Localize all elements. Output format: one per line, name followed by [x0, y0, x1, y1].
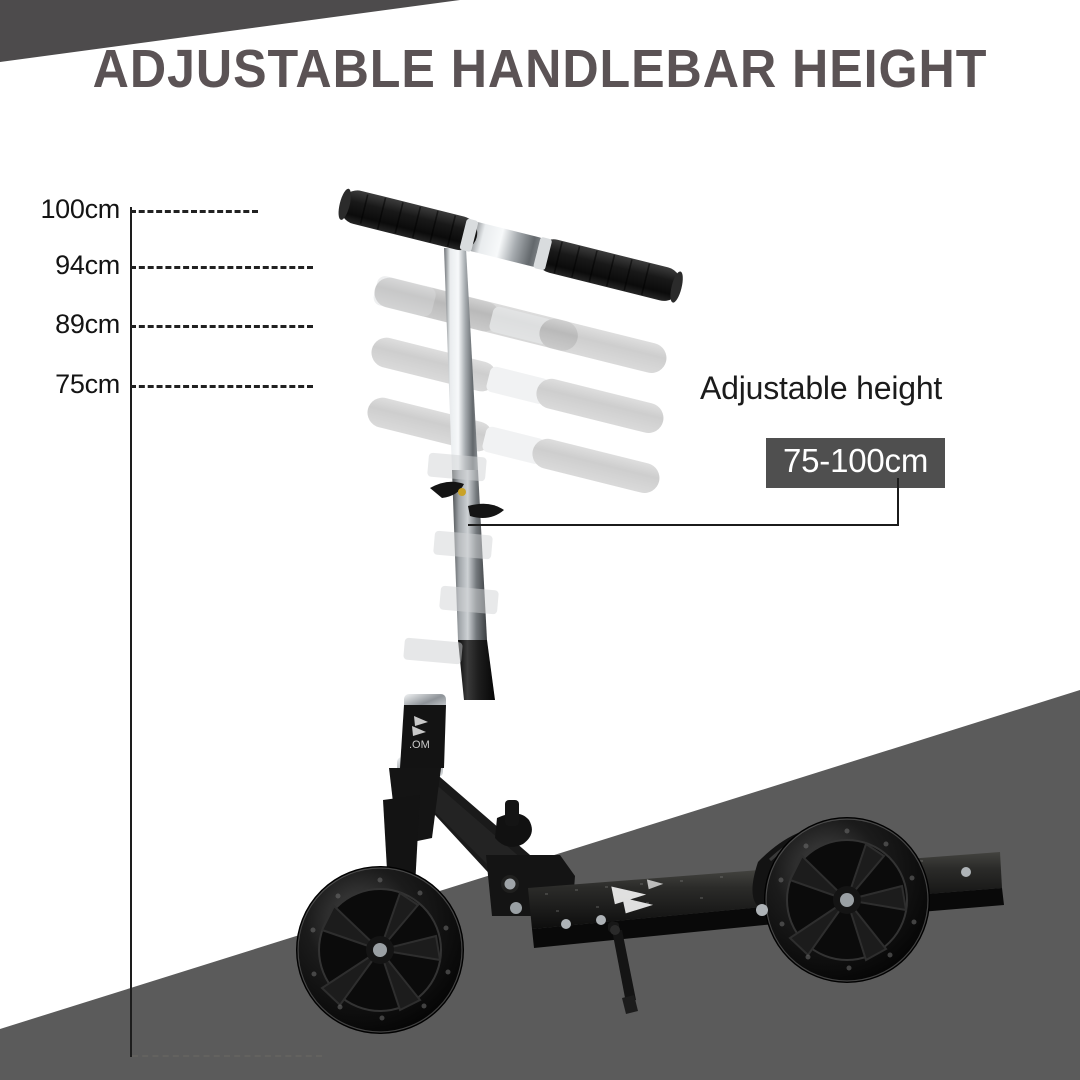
scale-tick-label-100: 100cm	[0, 194, 120, 225]
scooter-illustration: .OM	[0, 0, 1080, 1080]
callout-leader-horizontal	[468, 524, 899, 526]
rear-wheel	[765, 818, 929, 982]
handlebar-chrome-center	[465, 221, 546, 268]
folding-latch	[495, 800, 532, 847]
ghost-grip-right-94	[536, 316, 669, 377]
scale-tick-dash-89	[130, 325, 313, 328]
scale-tick-dash-100	[130, 210, 258, 213]
front-wheel	[297, 867, 463, 1033]
scale-tick-dash-94	[130, 266, 313, 269]
callout-value-badge: 75-100cm	[766, 438, 945, 488]
svg-text:.OM: .OM	[409, 739, 430, 751]
scale-tick-label-75: 75cm	[0, 369, 120, 400]
ghost-grip-left-89	[368, 334, 499, 394]
scale-tick-label-94: 94cm	[0, 250, 120, 281]
head-tube	[400, 705, 446, 768]
measurement-axis	[130, 207, 132, 1057]
ghost-grip-right-89	[533, 376, 666, 437]
scale-baseline-dash	[132, 1055, 322, 1057]
scale-tick-dash-75	[130, 385, 313, 388]
adjustable-height-callout: Adjustable height 75-100cm	[700, 370, 942, 407]
stem-lower	[458, 640, 495, 700]
scale-tick-label-89: 89cm	[0, 309, 120, 340]
callout-leader-vertical	[897, 478, 899, 526]
ghost-grip-right-75	[529, 436, 662, 497]
callout-label: Adjustable height	[700, 370, 942, 407]
handlebar-grip-left	[337, 187, 481, 254]
deck-bolt-front	[561, 919, 571, 929]
ghost-grip-left-94	[371, 274, 502, 334]
infographic-canvas: ADJUSTABLE HANDLEBAR HEIGHT	[0, 0, 1080, 1080]
rear-axle-bolt	[756, 904, 768, 916]
